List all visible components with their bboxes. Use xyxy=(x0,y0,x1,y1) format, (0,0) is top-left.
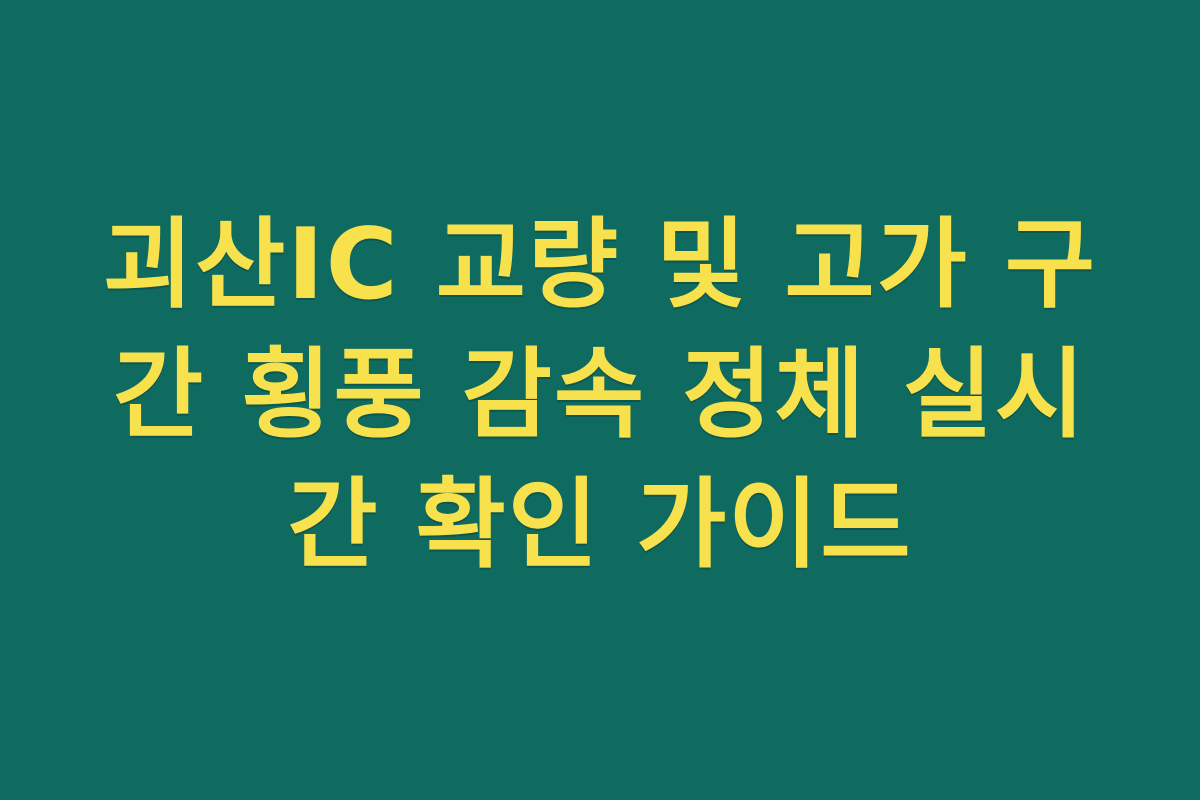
page-title: 괴산IC 교량 및 고가 구 간 횡풍 감속 정체 실시 간 확인 가이드 xyxy=(85,200,1115,590)
title-line-1: 괴산IC 교량 및 고가 구 xyxy=(85,200,1115,330)
title-card: 괴산IC 교량 및 고가 구 간 횡풍 감속 정체 실시 간 확인 가이드 xyxy=(0,0,1200,800)
title-line-3: 간 확인 가이드 xyxy=(85,460,1115,590)
title-line-2: 간 횡풍 감속 정체 실시 xyxy=(85,330,1115,460)
